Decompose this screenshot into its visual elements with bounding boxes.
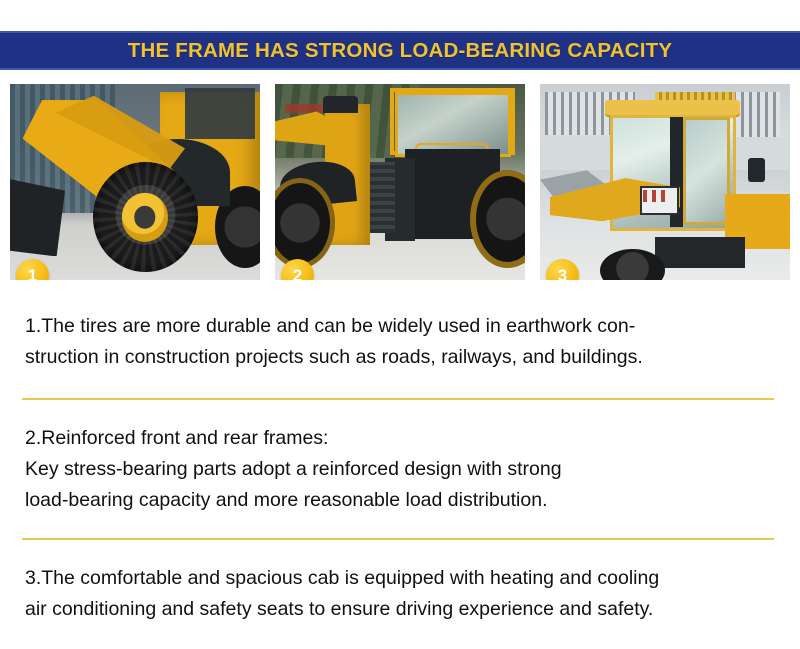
photo-gallery: 1 2 bbox=[10, 84, 790, 280]
photo-card-1[interactable]: 1 bbox=[10, 84, 260, 280]
loader-front-illustration bbox=[10, 84, 260, 280]
feature-paragraph-1: 1.The tires are more durable and can be … bbox=[25, 311, 777, 373]
feature-paragraph-3: 3.The comfortable and spacious cab is eq… bbox=[25, 563, 777, 625]
feature-paragraph-1-line-2: struction in construction projects such … bbox=[25, 342, 777, 373]
operator-cab-illustration bbox=[540, 84, 790, 280]
product-feature-page: THE FRAME HAS STRONG LOAD-BEARING CAPACI… bbox=[0, 0, 800, 649]
section-banner: THE FRAME HAS STRONG LOAD-BEARING CAPACI… bbox=[0, 31, 800, 70]
divider-2 bbox=[22, 538, 774, 540]
feature-paragraph-2-line-1: 2.Reinforced front and rear frames: bbox=[25, 423, 777, 454]
photo-card-3[interactable]: 3 bbox=[540, 84, 790, 280]
feature-paragraph-2-line-2: Key stress-bearing parts adopt a reinfor… bbox=[25, 454, 777, 485]
banner-title: THE FRAME HAS STRONG LOAD-BEARING CAPACI… bbox=[128, 39, 672, 63]
divider-1 bbox=[22, 398, 774, 400]
loader-frame-illustration bbox=[275, 84, 525, 280]
feature-paragraph-2-line-3: load-bearing capacity and more reasonabl… bbox=[25, 485, 777, 516]
feature-paragraph-1-line-1: 1.The tires are more durable and can be … bbox=[25, 311, 777, 342]
feature-paragraph-2: 2.Reinforced front and rear frames: Key … bbox=[25, 423, 777, 516]
photo-card-2[interactable]: 2 bbox=[275, 84, 525, 280]
feature-paragraph-3-line-2: air conditioning and safety seats to ens… bbox=[25, 594, 777, 625]
feature-paragraph-3-line-1: 3.The comfortable and spacious cab is eq… bbox=[25, 563, 777, 594]
